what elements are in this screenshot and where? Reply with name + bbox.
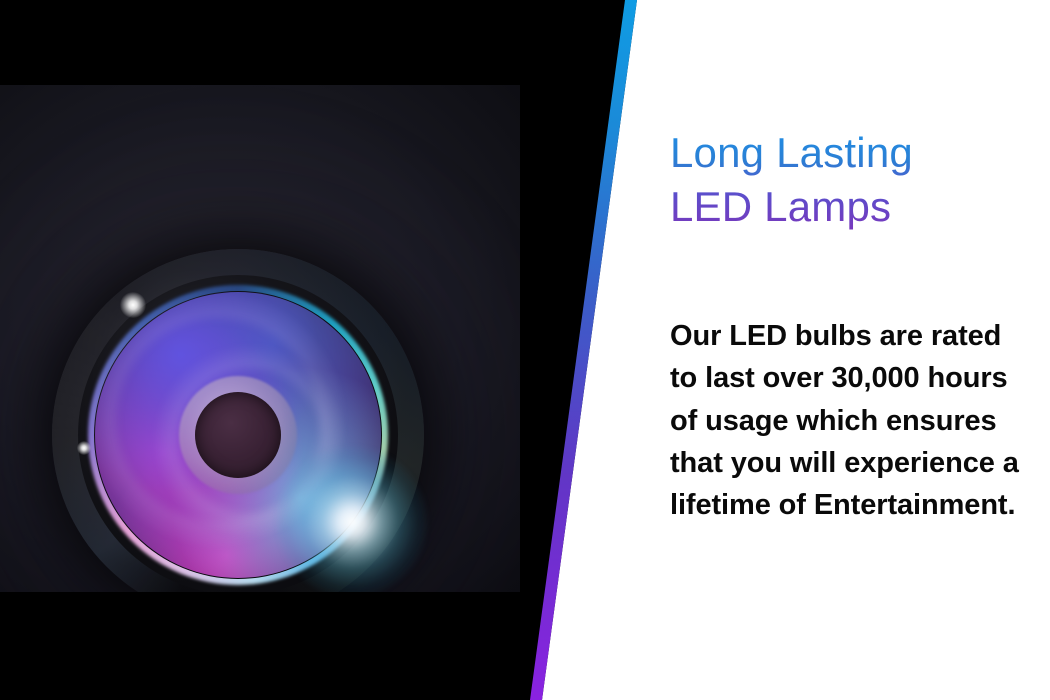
headline-line-1: Long Lasting — [670, 126, 1010, 180]
led-lens-photo — [0, 85, 520, 592]
body-paragraph: Our LED bulbs are rated to last over 30,… — [670, 315, 1020, 527]
lens-pupil — [195, 392, 281, 478]
slide-canvas: Long Lasting LED Lamps Our LED bulbs are… — [0, 0, 1050, 700]
headline: Long Lasting LED Lamps — [670, 126, 1010, 234]
headline-line-2: LED Lamps — [670, 180, 1010, 234]
left-image-panel — [0, 0, 660, 700]
text-content: Long Lasting LED Lamps Our LED bulbs are… — [670, 0, 1030, 700]
